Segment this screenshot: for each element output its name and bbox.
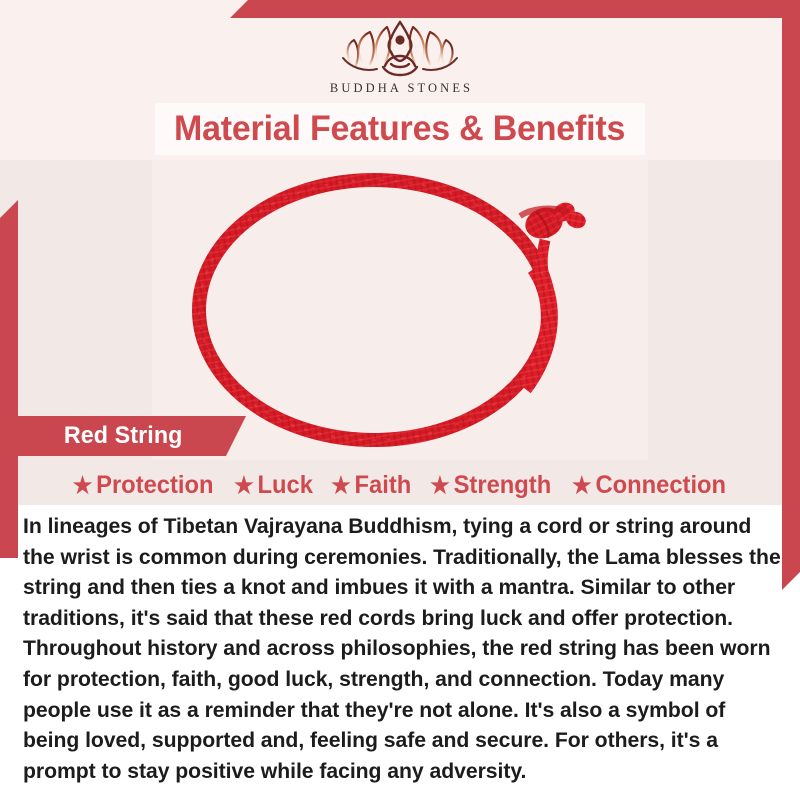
title-band: Material Features & Benefits bbox=[155, 103, 645, 155]
product-name-ribbon: Red String bbox=[18, 416, 246, 456]
benefit-connection: ★ Connection bbox=[572, 471, 726, 500]
benefit-faith: ★ Faith bbox=[331, 471, 411, 500]
benefit-label: Connection bbox=[596, 471, 727, 500]
star-icon: ★ bbox=[331, 474, 351, 497]
page-title: Material Features & Benefits bbox=[174, 109, 625, 149]
benefit-label: Faith bbox=[354, 471, 411, 500]
benefit-label: Protection bbox=[97, 471, 214, 500]
brand-logo: BUDDHA STONES bbox=[0, 16, 800, 102]
star-icon: ★ bbox=[73, 474, 93, 497]
lotus-meditation-icon bbox=[325, 16, 475, 80]
brand-name: BUDDHA STONES bbox=[327, 81, 473, 96]
poster: BUDDHA STONES Material Features & Benefi… bbox=[0, 0, 800, 800]
star-icon: ★ bbox=[430, 474, 450, 497]
benefit-label: Luck bbox=[257, 471, 312, 500]
left-red-strip-decoration bbox=[0, 200, 18, 558]
description-text: In lineages of Tibetan Vajrayana Buddhis… bbox=[23, 512, 783, 787]
right-red-strip-decoration bbox=[782, 18, 800, 590]
star-icon: ★ bbox=[572, 474, 592, 497]
product-name-label: Red String bbox=[64, 422, 183, 450]
benefits-row: ★ Protection ★ Luck ★ Faith ★ Strength ★… bbox=[0, 466, 800, 504]
benefit-label: Strength bbox=[454, 471, 552, 500]
benefit-protection: ★ Protection bbox=[73, 471, 214, 500]
red-string-bracelet-illustration bbox=[152, 160, 648, 460]
product-image bbox=[152, 160, 648, 460]
star-icon: ★ bbox=[234, 474, 254, 497]
benefit-luck: ★ Luck bbox=[234, 471, 313, 500]
benefit-strength: ★ Strength bbox=[430, 471, 551, 500]
